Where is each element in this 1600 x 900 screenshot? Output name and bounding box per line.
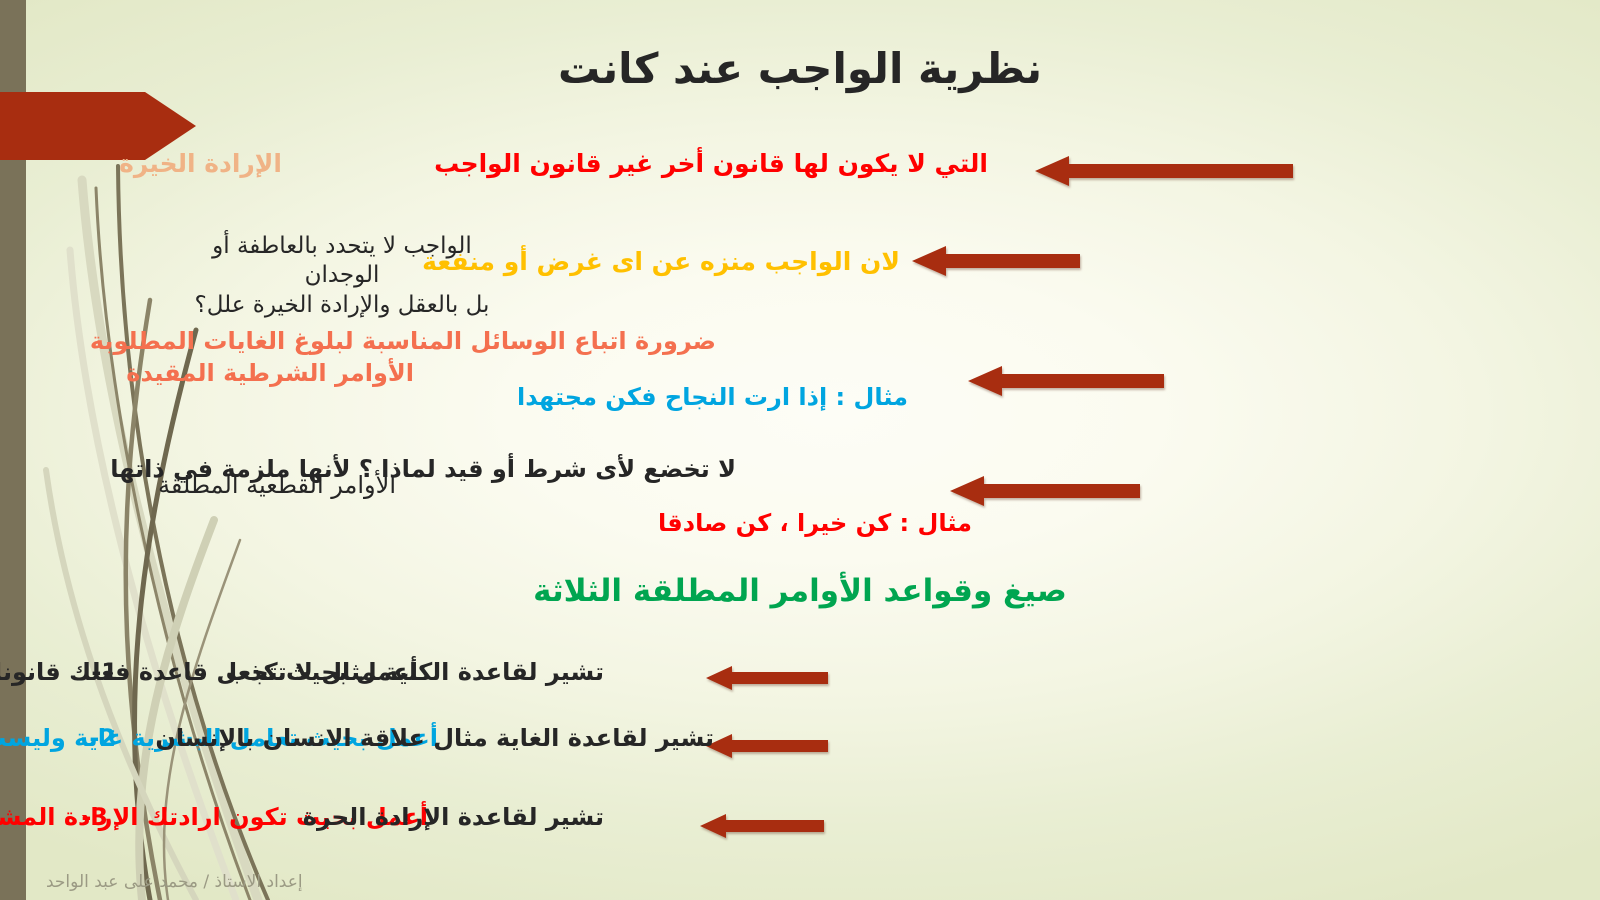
arrow-left-row2 <box>912 244 1080 278</box>
formulation-result-3: تشير لقاعدة الإرادة الحرة <box>303 802 604 833</box>
concept-label-good-will: الإرادة الخيرة <box>119 148 282 180</box>
section-heading-three-formulations: صيغ وقواعد الأوامر المطلقة الثلاثة <box>0 572 1600 612</box>
arrow-left-row1 <box>1035 154 1293 188</box>
arrow-left-formulation-2 <box>706 732 828 760</box>
slide-canvas: نظرية الواجب عند كانت الإرادة الخيرة الت… <box>0 0 1600 900</box>
formulation-result-2: تشير لقاعدة الغاية مثال علاقة الانسان با… <box>155 723 714 754</box>
concept-detail-good-will: التي لا يكون لها قانون أخر غير قانون الو… <box>434 148 988 180</box>
concept-detail-hypothetical-example: مثال : إذا ارت النجاح فكن مجتهدا <box>517 382 908 413</box>
arrow-left-formulation-3 <box>700 812 824 840</box>
formulation-result-1: تشير لقاعدة الكلية مثال لا تكذب <box>226 657 604 688</box>
arrow-left-row4 <box>950 474 1140 508</box>
concept-label-hypothetical: الأوامر الشرطية المقيدة <box>126 358 414 389</box>
concept-detail-duty-reason: لان الواجب منزه عن اى غرض أو منفعة <box>422 246 900 278</box>
concept-label-duty-reason-line2: بل بالعقل والإرادة الخيرة علل؟ <box>182 291 502 320</box>
concept-detail-categorical-example: مثال : كن خيرا ، كن صادقا <box>658 508 972 539</box>
page-title: نظرية الواجب عند كانت <box>0 44 1600 93</box>
arrow-left-formulation-1 <box>706 664 828 692</box>
concept-detail-hypothetical-rule: ضرورة اتباع الوسائل المناسبة لبلوغ الغاي… <box>90 326 716 357</box>
author-credit: إعداد الاستاذ / محمد على عبد الواحد <box>46 872 303 892</box>
arrow-left-row3 <box>968 364 1164 398</box>
concept-detail-categorical-rule: لا تخضع لأى شرط أو قيد لماذا ؟ لأنها ملز… <box>110 454 736 485</box>
